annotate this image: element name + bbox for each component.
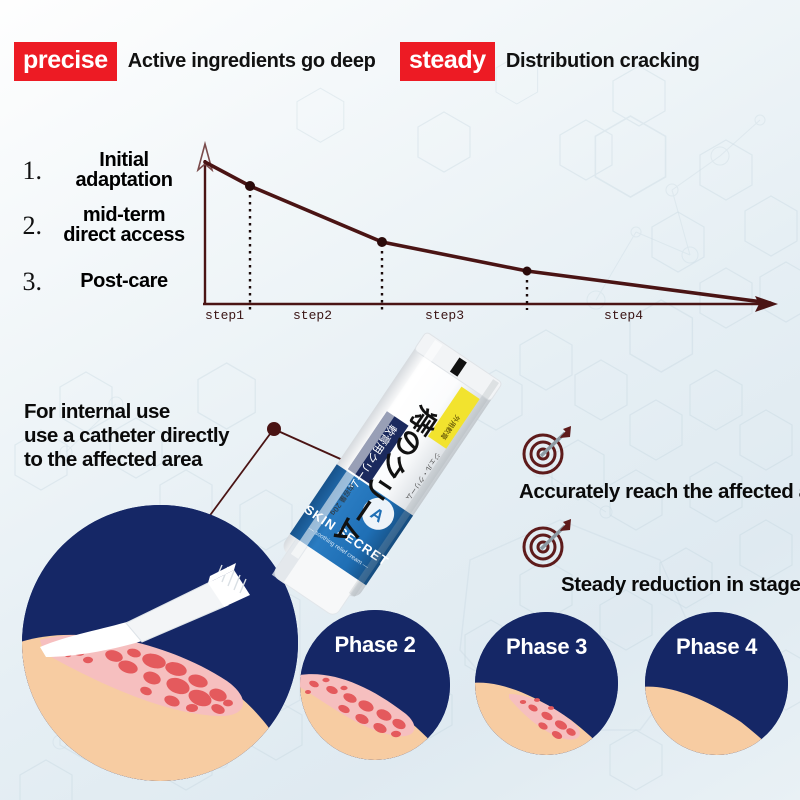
chart-point-step1 (245, 181, 255, 191)
header-band: precise Active ingredients go deep stead… (0, 34, 800, 98)
product-tube-illustration: A SKIN SECRET — soothing relief cream — … (255, 325, 515, 625)
bullet-accurately-reach: Accurately reach the affected area (519, 424, 577, 476)
phase-2-circle: Phase 2 (300, 610, 450, 760)
target-arrow-icon (519, 517, 577, 569)
phase-3-label: Phase 3 (475, 634, 618, 660)
tag-caption-precise: Active ingredients go deep (128, 50, 376, 73)
chart-point-step2 (377, 237, 387, 247)
chart-x-tick-step1: step1 (205, 308, 244, 323)
header-item-steady: steady Distribution cracking (400, 42, 700, 81)
target-arrow-icon (519, 424, 577, 476)
chart-x-tick-step4: step4 (604, 308, 643, 323)
phase-4-label: Phase 4 (645, 634, 788, 660)
header-item-precise: precise Active ingredients go deep (14, 42, 376, 81)
chart-data-line (205, 162, 770, 303)
phase-3-circle: Phase 3 (475, 612, 618, 755)
product-tube: A SKIN SECRET — soothing relief cream — … (255, 325, 515, 615)
infographic-page: precise Active ingredients go deep stead… (0, 0, 800, 800)
chart-plot (0, 130, 800, 330)
tag-caption-steady: Distribution cracking (506, 50, 700, 73)
tag-badge-steady: steady (400, 42, 495, 81)
tag-badge-precise: precise (14, 42, 117, 81)
phase-2-label: Phase 2 (300, 632, 450, 658)
bullet-steady-reduction: Steady reduction in stages (519, 517, 577, 569)
bullet-steady-reduction-text: Steady reduction in stages (561, 573, 800, 597)
progression-chart: 1. Initial adaptation 2. mid-term direct… (0, 130, 800, 340)
chart-x-tick-step2: step2 (293, 308, 332, 323)
bullet-accurately-reach-text: Accurately reach the affected area (519, 480, 800, 504)
chart-x-tick-step3: step3 (425, 308, 464, 323)
chart-point-step3 (523, 267, 532, 276)
phase-4-circle: Phase 4 (645, 612, 788, 755)
